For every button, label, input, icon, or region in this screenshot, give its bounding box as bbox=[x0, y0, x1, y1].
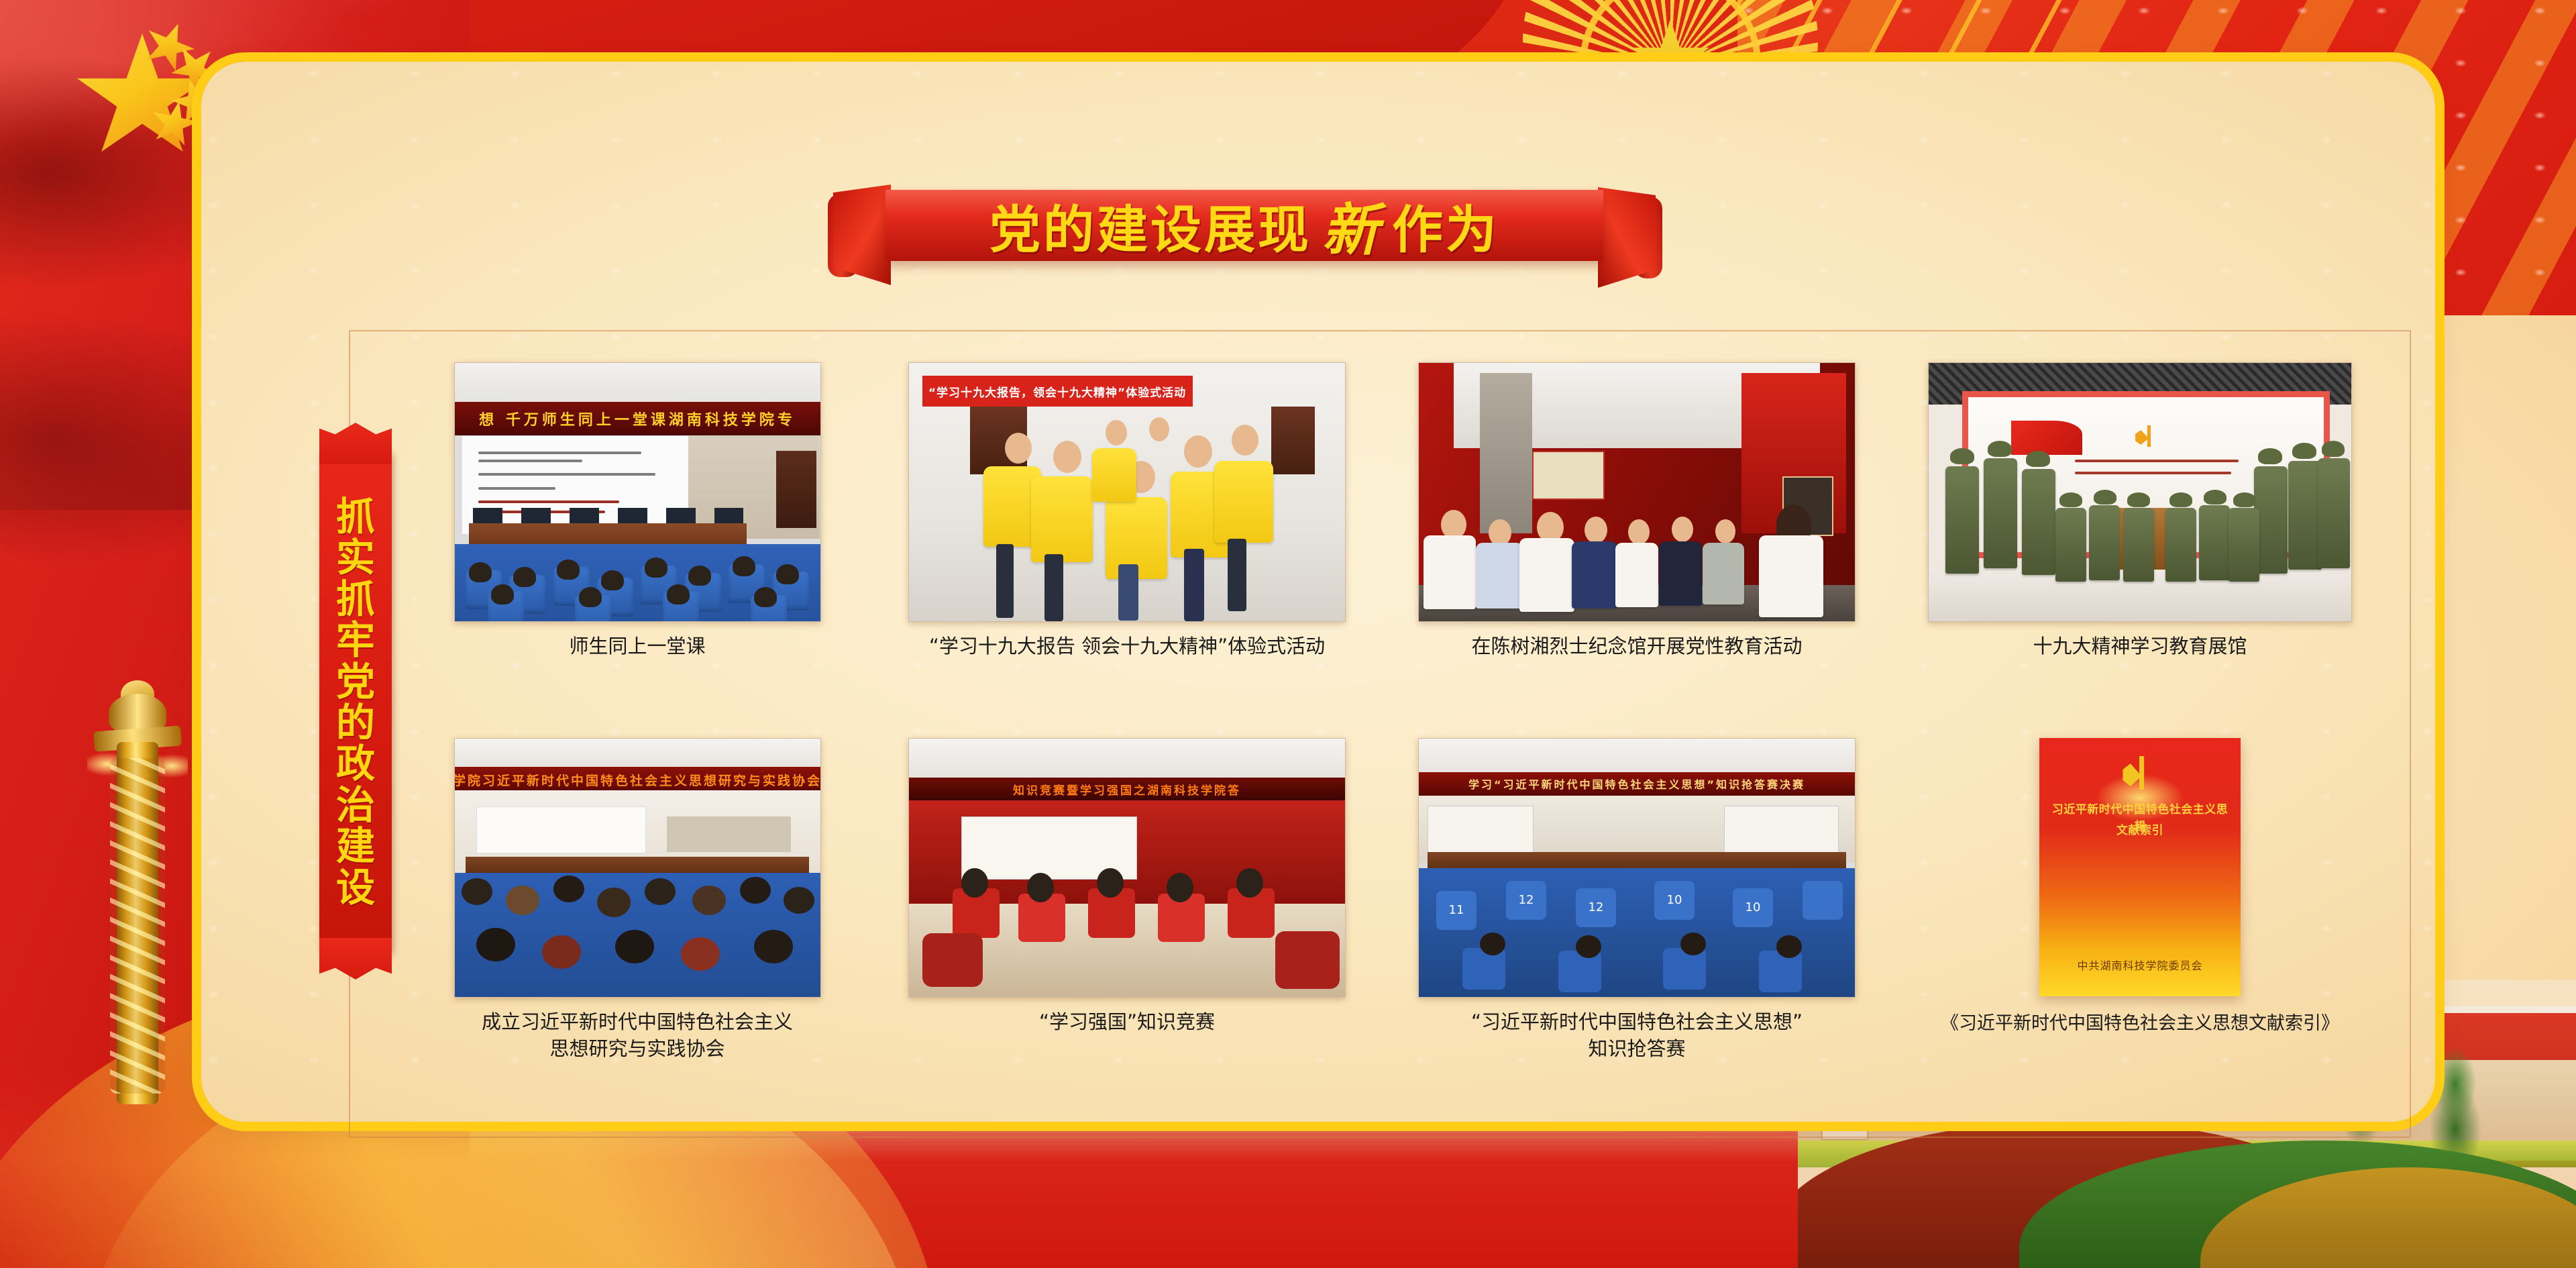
hall-door bbox=[776, 451, 816, 529]
memorial-visitors bbox=[1419, 503, 1855, 621]
photo-cell-3[interactable]: 在陈树湘烈士纪念馆开展党性教育活动 bbox=[1382, 362, 1892, 691]
scene-team-activity: “学习十九大报告，领会十九大精神”体验式活动 bbox=[909, 363, 1345, 621]
vertical-banner-char: 实 bbox=[336, 537, 375, 578]
photo-cell-2[interactable]: “学习十九大报告，领会十九大精神”体验式活动 bbox=[872, 362, 1382, 691]
meeting-banner-text: 湖南科技学院习近平新时代中国特色社会主义思想研究与实践协会成立大会 bbox=[454, 767, 821, 793]
photo-4-image[interactable] bbox=[1928, 362, 2352, 622]
scene-memorial-hall bbox=[1419, 363, 1855, 621]
person-head bbox=[1184, 435, 1212, 468]
hall-ceiling bbox=[455, 363, 820, 407]
person-head bbox=[1106, 420, 1127, 445]
title-banner: 党的建设展现 新 作为 bbox=[771, 171, 1644, 292]
book-title-line2: 文献索引 bbox=[2051, 821, 2229, 837]
photo-5-caption: 成立习近平新时代中国特色社会主义 思想研究与实践协会 bbox=[402, 1008, 872, 1062]
meeting-audience bbox=[455, 873, 820, 997]
scene-association-meeting: 湖南科技学院习近平新时代中国特色社会主义思想研究与实践协会成立大会 bbox=[455, 739, 820, 997]
vertical-banner-char: 治 bbox=[336, 785, 375, 826]
photo-5-caption-line2: 思想研究与实践协会 bbox=[402, 1035, 872, 1062]
final-banner-text: 学习“习近平新时代中国特色社会主义思想”知识抢答赛决赛 bbox=[1418, 772, 1856, 796]
vertical-banner-char: 抓 bbox=[336, 496, 375, 537]
vertical-banner-char: 牢 bbox=[336, 620, 375, 661]
photo-grid: 想 千万师生同上一堂课湖南科技学院专 bbox=[402, 362, 2388, 1107]
photo-3-caption: 在陈树湘烈士纪念馆开展党性教育活动 bbox=[1382, 633, 1892, 659]
scene-book-cover: 习近平新时代中国特色社会主义思想 文献索引 中共湖南科技学院委员会 bbox=[2039, 738, 2241, 996]
photo-5-caption-line1: 成立习近平新时代中国特色社会主义 bbox=[402, 1008, 872, 1035]
hall-audience-seating bbox=[455, 544, 820, 622]
scene-lecture-hall: 想 千万师生同上一堂课湖南科技学院专 bbox=[455, 363, 820, 621]
book-publisher: 中共湖南科技学院委员会 bbox=[2051, 957, 2229, 973]
vertical-banner-char: 设 bbox=[336, 867, 375, 908]
photo-cell-7[interactable]: 学习“习近平新时代中国特色社会主义思想”知识抢答赛决赛 11 12 12 10 … bbox=[1382, 738, 1892, 1104]
vertical-banner-char: 的 bbox=[336, 702, 375, 743]
photo-6-caption: “学习强国”知识竞赛 bbox=[872, 1008, 1382, 1035]
photo-cell-4[interactable]: 十九大精神学习教育展馆 bbox=[1892, 362, 2388, 691]
final-audience-seating: 11 12 12 10 10 bbox=[1419, 868, 1855, 998]
scene-exhibition-hall bbox=[1929, 363, 2351, 621]
photo-cell-5[interactable]: 湖南科技学院习近平新时代中国特色社会主义思想研究与实践协会成立大会 bbox=[402, 738, 872, 1104]
final-screen-left bbox=[1428, 806, 1534, 853]
photo-2-image[interactable]: “学习十九大报告，领会十九大精神”体验式活动 bbox=[908, 362, 1346, 622]
hall-banner-text: 想 千万师生同上一堂课湖南科技学院专 bbox=[454, 402, 821, 435]
quiz-led-banner-text: 知识竞赛暨学习强国之湖南科技学院答 bbox=[908, 778, 1346, 801]
photo-6-image[interactable]: 知识竞赛暨学习强国之湖南科技学院答 bbox=[908, 738, 1346, 998]
memorial-map-panel bbox=[1532, 451, 1605, 500]
person-head bbox=[1149, 417, 1169, 441]
page-title-part1: 党的建设展现 bbox=[989, 189, 1311, 262]
photo-7-caption-line1: “习近平新时代中国特色社会主义思想” bbox=[1382, 1008, 1892, 1035]
vertical-banner: 抓实抓牢党的政治建设 bbox=[315, 423, 396, 980]
huabiao-dragon-coil bbox=[110, 758, 165, 1094]
final-screen-right bbox=[1724, 806, 1839, 853]
photo-7-caption: “习近平新时代中国特色社会主义思想” 知识抢答赛 bbox=[1382, 1008, 1892, 1062]
photo-4-caption: 十九大精神学习教育展馆 bbox=[1892, 633, 2388, 659]
page-title-accent: 新 bbox=[1316, 185, 1388, 266]
photo-cell-8[interactable]: 习近平新时代中国特色社会主义思想 文献索引 中共湖南科技学院委员会 《习近平新时… bbox=[1892, 738, 2388, 1104]
vertical-banner-char: 党 bbox=[336, 662, 375, 702]
vertical-banner-cap-top bbox=[319, 423, 392, 464]
volunteer-vest bbox=[1092, 448, 1136, 502]
activity-banner-text: “学习十九大报告，领会十九大精神”体验式活动 bbox=[922, 376, 1193, 407]
photo-cell-1[interactable]: 想 千万师生同上一堂课湖南科技学院专 bbox=[402, 362, 872, 691]
photo-row-1: 想 千万师生同上一堂课湖南科技学院专 bbox=[402, 362, 2388, 691]
person-head bbox=[1053, 441, 1081, 473]
photo-1-image[interactable]: 想 千万师生同上一堂课湖南科技学院专 bbox=[454, 362, 821, 622]
party-emblem-icon bbox=[2135, 425, 2160, 447]
photo-8-image[interactable]: 习近平新时代中国特色社会主义思想 文献索引 中共湖南科技学院委员会 bbox=[2039, 738, 2241, 996]
vertical-banner-char: 政 bbox=[336, 743, 375, 784]
photo-3-image[interactable] bbox=[1418, 362, 1856, 622]
person-head bbox=[1005, 433, 1032, 464]
room-door-2 bbox=[1271, 407, 1315, 474]
photo-2-caption: “学习十九大报告 领会十九大精神”体验式活动 bbox=[872, 633, 1382, 659]
volunteer-vest bbox=[1214, 461, 1273, 543]
photo-1-caption: 师生同上一堂课 bbox=[402, 633, 872, 659]
photo-7-image[interactable]: 学习“习近平新时代中国特色社会主义思想”知识抢答赛决赛 11 12 12 10 … bbox=[1418, 738, 1856, 998]
page-title-part2: 作为 bbox=[1392, 189, 1499, 262]
exhibition-flag-graphic bbox=[2011, 421, 2082, 455]
vertical-banner-char: 抓 bbox=[336, 579, 375, 620]
vertical-banner-text: 抓实抓牢党的政治建设 bbox=[315, 466, 396, 939]
photo-row-2: 湖南科技学院习近平新时代中国特色社会主义思想研究与实践协会成立大会 bbox=[402, 738, 2388, 1104]
photo-5-image[interactable]: 湖南科技学院习近平新时代中国特色社会主义思想研究与实践协会成立大会 bbox=[454, 738, 821, 998]
vertical-banner-char: 建 bbox=[336, 826, 375, 867]
scene-quiz-final: 学习“习近平新时代中国特色社会主义思想”知识抢答赛决赛 11 12 12 10 … bbox=[1419, 739, 1855, 997]
volunteer-vest bbox=[1031, 476, 1093, 562]
poster-canvas: 世界人民大团结万岁 党的建设展现 新 作为 抓实抓牢党的政治建设 bbox=[0, 0, 2576, 1268]
meeting-stage bbox=[455, 790, 820, 878]
photo-8-caption: 《习近平新时代中国特色社会主义思想文献索引》 bbox=[1892, 1011, 2388, 1036]
huabiao-column bbox=[91, 684, 184, 1114]
photo-cell-6[interactable]: 知识竞赛暨学习强国之湖南科技学院答 bbox=[872, 738, 1382, 1104]
scene-quiz-competition: 知识竞赛暨学习强国之湖南科技学院答 bbox=[909, 739, 1345, 997]
vertical-banner-cap-bottom bbox=[319, 938, 392, 980]
page-title: 党的建设展现 新 作为 bbox=[885, 190, 1603, 261]
photo-7-caption-line2: 知识抢答赛 bbox=[1382, 1035, 1892, 1062]
